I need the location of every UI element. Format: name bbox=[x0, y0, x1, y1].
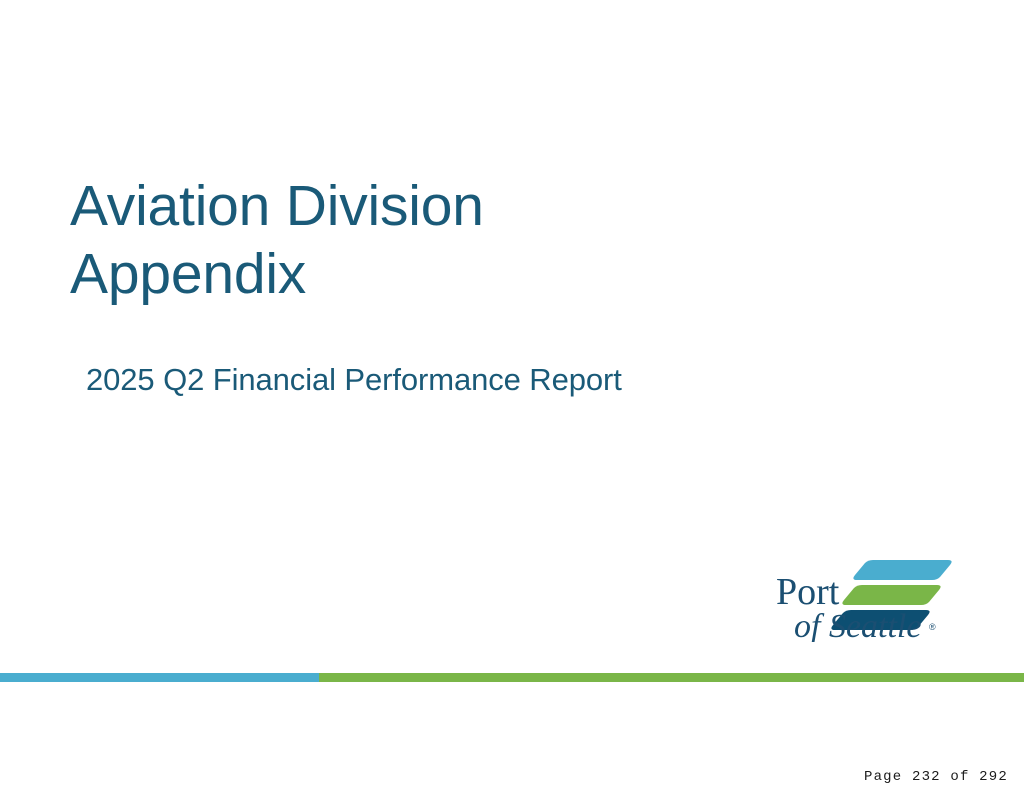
logo-wordmark-of-seattle: of Seattle bbox=[794, 608, 921, 642]
logo-stripe-green-icon bbox=[842, 585, 940, 605]
slide-page: Aviation Division Appendix 2025 Q2 Finan… bbox=[0, 0, 1024, 791]
page-subtitle: 2025 Q2 Financial Performance Report bbox=[86, 360, 886, 400]
page-number-footer: Page 232 of 292 bbox=[864, 769, 1008, 785]
logo-graphic: Port of Seattle ® bbox=[776, 556, 956, 642]
logo-wordmark-port: Port bbox=[776, 571, 840, 613]
logo-trademark-icon: ® bbox=[929, 622, 936, 632]
title-block: Aviation Division Appendix bbox=[70, 172, 830, 308]
port-of-seattle-logo: Port of Seattle ® bbox=[776, 556, 956, 642]
accent-rule-blue-segment bbox=[0, 673, 319, 682]
subtitle-block: 2025 Q2 Financial Performance Report bbox=[86, 360, 886, 400]
accent-rule bbox=[0, 673, 1024, 682]
page-title: Aviation Division Appendix bbox=[70, 172, 830, 308]
logo-stripe-blue-icon bbox=[853, 560, 951, 580]
accent-rule-green-segment bbox=[319, 673, 1024, 682]
